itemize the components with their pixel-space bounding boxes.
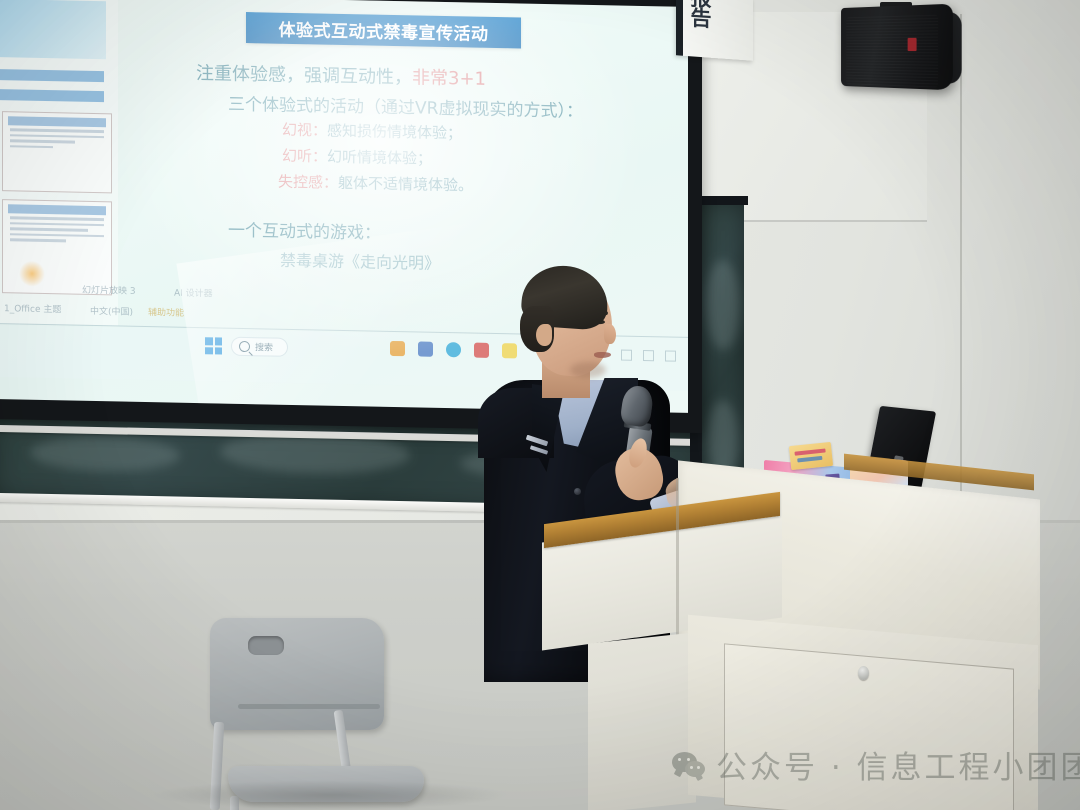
edge-browser-icon[interactable] <box>446 342 461 357</box>
slide-line-3-text: 感知损伤情境体验； <box>327 122 462 143</box>
slide-line-1-text: 注重体验感，强调互动性， <box>196 63 412 88</box>
card-subtitle-bar <box>797 456 822 463</box>
slide-line-4-text: 幻听情境体验； <box>327 148 432 168</box>
slide-thumbnail-1[interactable] <box>0 0 106 59</box>
slide-line-5: 失控感：躯体不适情境体验。 <box>278 171 473 196</box>
slide-line-7-text: 禁毒桌游《走向光明》 <box>280 251 440 273</box>
ppt-status-designer[interactable]: AI 设计器 <box>174 286 213 300</box>
wall-sign-text: 报告 <box>685 0 715 28</box>
slide-line-7: 禁毒桌游《走向光明》 <box>280 247 440 274</box>
search-icon <box>239 341 250 352</box>
taskbar-center-group: 搜索 <box>205 336 288 357</box>
taskbar-search-box[interactable]: 搜索 <box>231 337 288 357</box>
ear <box>536 324 552 346</box>
chair-backrest <box>210 618 384 730</box>
ppt-status-slide: 幻灯片放映 3 <box>82 283 136 297</box>
file-explorer-icon[interactable] <box>390 341 405 356</box>
chair-handle-slot <box>248 636 284 655</box>
slide-line-2-text: 三个体验式的活动（通过VR虚拟现实的方式）： <box>228 95 583 122</box>
ppt-status-theme: 1_Office 主题 <box>4 301 61 315</box>
wechat-icon <box>672 752 705 777</box>
speaker-body <box>841 4 953 91</box>
speaker-brand-badge <box>908 38 917 51</box>
nose <box>604 324 616 344</box>
watermark-text: 公众号 · 信息工程小团团 <box>716 742 1080 787</box>
floor-shadow <box>150 780 510 810</box>
ppt-thumbnail-panel[interactable] <box>0 0 118 325</box>
mouth <box>594 352 611 358</box>
slide-line-6-text: 一个互动式的游戏： <box>228 221 381 244</box>
slide-line-1-accent: 非常3+1 <box>412 67 486 89</box>
lecture-photo-scene: 体验式互动式禁毒宣传活动 注重体验感，强调互动性，非常3+1 三个体验式的活动（… <box>0 0 1080 810</box>
search-placeholder-text: 搜索 <box>255 340 273 353</box>
slide-thumbnail-3[interactable] <box>0 89 104 102</box>
slide-line-6: 一个互动式的游戏： <box>228 216 381 244</box>
slide-line-3: 幻视：感知损伤情境体验； <box>282 119 462 144</box>
slide-thumbnail-4[interactable] <box>2 111 112 193</box>
wall-mounted-loudspeaker <box>836 2 970 94</box>
chin-shadow <box>570 362 606 378</box>
wechat-watermark: 公众号 · 信息工程小团团 <box>672 742 1080 787</box>
speaker-grille <box>846 15 938 88</box>
ppt-status-language[interactable]: 中文(中国) <box>90 304 133 318</box>
slide-line-2: 三个体验式的活动（通过VR虚拟现实的方式）： <box>228 90 583 122</box>
slide-line-3-accent: 幻视： <box>282 121 327 140</box>
start-button-icon[interactable] <box>205 337 222 354</box>
chair-backrest-groove <box>238 704 380 709</box>
slide-banner-text: 体验式互动式禁毒宣传活动 <box>279 16 489 45</box>
slide-line-4-accent: 幻听： <box>282 147 327 166</box>
chalkboard-frame-top <box>700 196 748 205</box>
slide-thumbnail-2[interactable] <box>0 69 104 82</box>
slide-line-5-text: 躯体不适情境体验。 <box>338 174 473 195</box>
wall-sign: 报告 <box>676 0 753 61</box>
card-title-bar <box>794 448 825 455</box>
cabinet-lock[interactable] <box>858 666 869 680</box>
card-deck-yellow[interactable] <box>789 442 833 470</box>
slide-line-4: 幻听：幻听情境体验； <box>282 145 432 169</box>
line-app-icon[interactable] <box>418 341 433 356</box>
ppt-status-accessibility[interactable]: 辅助功能 <box>148 305 184 319</box>
slide-line-1: 注重体验感，强调互动性，非常3+1 <box>196 59 486 91</box>
slide-banner-title: 体验式互动式禁毒宣传活动 <box>246 12 521 49</box>
slide-line-5-accent: 失控感： <box>278 173 338 192</box>
